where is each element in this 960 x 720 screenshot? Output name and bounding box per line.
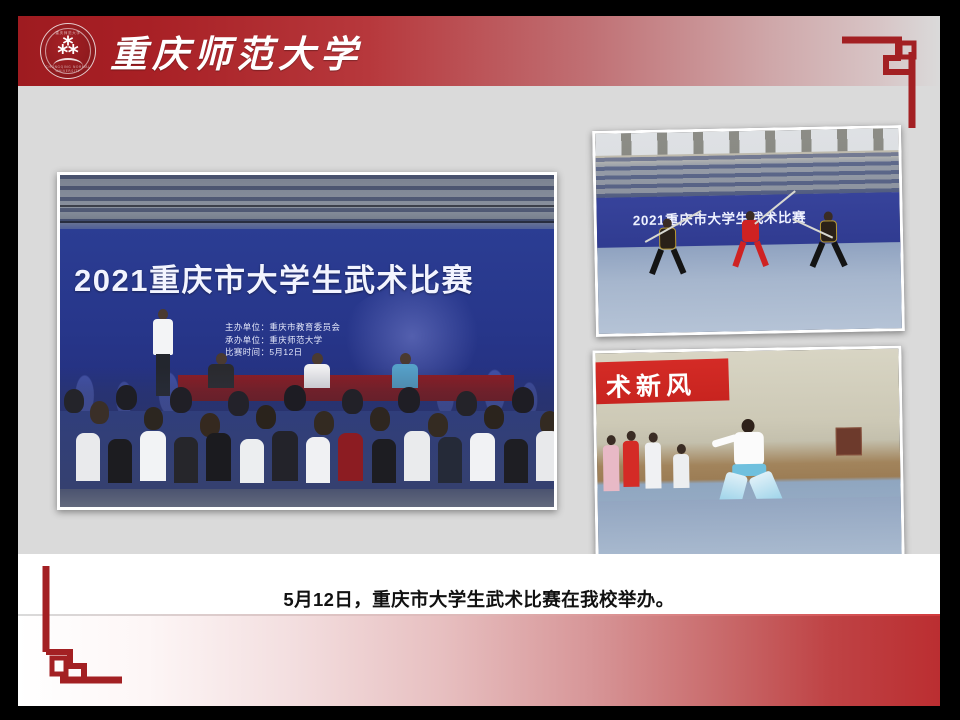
bystander-head bbox=[606, 435, 615, 445]
slide-header-band: 重庆师范大学 ⁂ CHONGQING NORMAL UNIVERSITY 重庆师… bbox=[18, 16, 940, 86]
athlete-center-red bbox=[733, 211, 774, 280]
university-seal-logo: 重庆师范大学 ⁂ CHONGQING NORMAL UNIVERSITY bbox=[40, 23, 96, 79]
seal-arc-top-text: 重庆师范大学 bbox=[41, 31, 95, 36]
seal-ring: 重庆师范大学 ⁂ CHONGQING NORMAL UNIVERSITY bbox=[40, 23, 96, 79]
gym-floor bbox=[60, 489, 554, 507]
wall-plaque bbox=[836, 427, 862, 455]
banner-line-organizer: 主办单位：重庆市教育委员会 bbox=[225, 321, 340, 334]
banner-line-host: 承办单位：重庆师范大学 bbox=[225, 334, 340, 347]
seal-center-glyph: ⁂ bbox=[41, 36, 95, 57]
performance-mat bbox=[598, 497, 902, 560]
red-banner-text: 术新风 bbox=[605, 365, 696, 404]
athlete-leg bbox=[671, 248, 687, 274]
bystander-head bbox=[648, 432, 657, 442]
performer-jacket bbox=[734, 432, 765, 466]
slide-header-title: 重庆师范大学 bbox=[110, 24, 362, 78]
stand-rail bbox=[60, 205, 554, 207]
stand-rail bbox=[60, 221, 554, 223]
three-athletes-weapons-photo: 2021重庆市大学生武术比赛 bbox=[592, 125, 905, 337]
opening-ceremony-photo: 2021重庆市大学生武术比赛 主办单位：重庆市教育委员会 承办单位：重庆师范大学… bbox=[57, 172, 557, 510]
screenshot-canvas: 重庆师范大学 ⁂ CHONGQING NORMAL UNIVERSITY 重庆师… bbox=[0, 0, 960, 720]
bystander-body bbox=[603, 445, 620, 491]
seal-arc-bottom-text: CHONGQING NORMAL UNIVERSITY bbox=[41, 65, 95, 73]
backdrop-banner-title: 2021重庆市大学生武术比赛 bbox=[74, 255, 557, 300]
red-slogan-banner: 术新风 bbox=[595, 358, 729, 404]
presentation-slide: 重庆师范大学 ⁂ CHONGQING NORMAL UNIVERSITY 重庆师… bbox=[18, 16, 940, 706]
athlete-leg bbox=[831, 241, 847, 267]
seal-book-icon bbox=[53, 58, 83, 66]
bystander-red-uniform bbox=[623, 431, 640, 487]
student-crowd bbox=[60, 367, 554, 507]
judge-head bbox=[676, 444, 685, 454]
athlete-leg bbox=[754, 241, 769, 267]
athlete-leg bbox=[810, 242, 826, 268]
bystander-body bbox=[623, 441, 640, 487]
seated-judge bbox=[673, 444, 690, 488]
bystander-head bbox=[626, 431, 635, 441]
bystander-pink bbox=[603, 435, 620, 491]
athlete-leg bbox=[732, 241, 746, 268]
bottom-gradient-strip bbox=[18, 616, 940, 706]
athlete-left-spear bbox=[651, 218, 692, 281]
bystander-body bbox=[645, 442, 662, 488]
slide-caption: 5月12日，重庆市大学生武术比赛在我校举办。 bbox=[18, 586, 940, 612]
bystander-white bbox=[645, 432, 662, 488]
speaker-body bbox=[153, 319, 173, 355]
judge-body bbox=[673, 454, 690, 488]
athlete-leg bbox=[649, 249, 664, 275]
athlete-right-sword bbox=[811, 211, 852, 276]
solo-taiji-performer-photo: 术新风 bbox=[592, 346, 904, 563]
